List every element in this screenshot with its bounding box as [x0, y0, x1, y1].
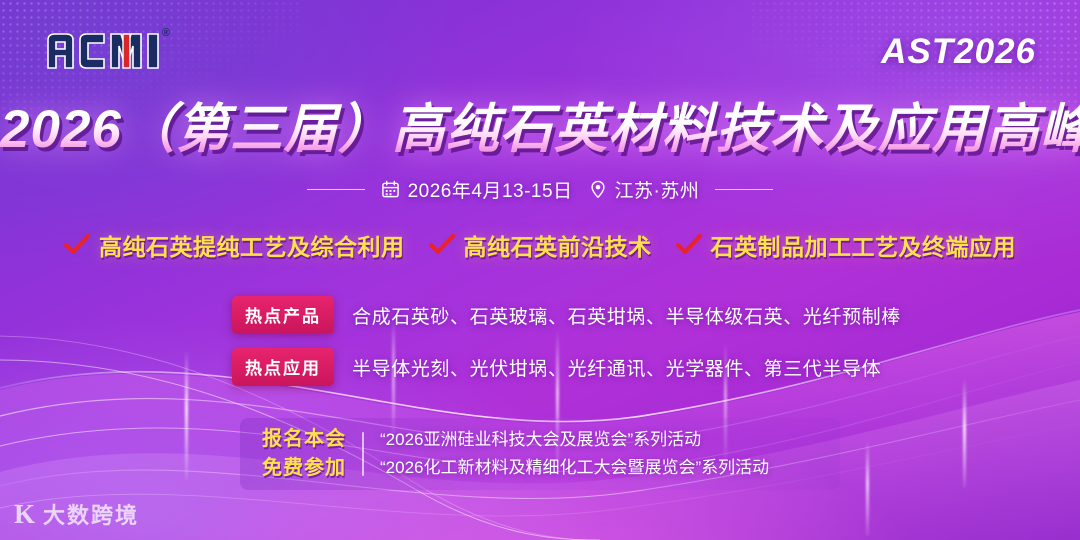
- hotspot-tag: 热点产品: [232, 296, 334, 334]
- topic-label: 高纯石英前沿技术: [464, 228, 652, 262]
- check-icon: [676, 234, 702, 256]
- light-ribbons-decoration: [0, 240, 1080, 540]
- rule-right: [715, 189, 773, 190]
- hotspot-tag: 热点应用: [232, 348, 334, 386]
- registration-item: “2026亚洲硅业科技大会及展览会”系列活动: [380, 426, 769, 454]
- hotspot-row-products: 热点产品 合成石英砂、石英玻璃、石英坩埚、半导体级石英、光纤预制棒: [232, 296, 901, 334]
- event-location-text: 江苏·苏州: [615, 176, 700, 203]
- acmi-logo[interactable]: ®: [44, 30, 166, 70]
- hotspot-value: 合成石英砂、石英玻璃、石英坩埚、半导体级石英、光纤预制棒: [352, 302, 901, 329]
- event-date: 2026年4月13-15日: [381, 176, 573, 203]
- light-beam: [185, 350, 188, 480]
- topic-item: 高纯石英提纯工艺及综合利用: [64, 228, 405, 262]
- watermark: K 大数跨境: [14, 498, 139, 530]
- event-code: AST2026: [881, 32, 1036, 72]
- registration-panel[interactable]: 报名本会 免费参加 “2026亚洲硅业科技大会及展览会”系列活动 “2026化工…: [240, 418, 840, 490]
- hotspot-row-applications: 热点应用 半导体光刻、光伏坩埚、光纤通讯、光学器件、第三代半导体: [232, 348, 881, 386]
- topic-item: 高纯石英前沿技术: [429, 228, 652, 262]
- registration-item: “2026化工新材料及精细化工大会暨展览会”系列活动: [380, 454, 769, 482]
- watermark-text: 大数跨境: [43, 498, 139, 530]
- registered-trademark-icon: ®: [162, 27, 170, 39]
- event-banner: ® AST2026 2026（第三届）高纯石英材料技术及应用高峰论坛 2026年…: [0, 0, 1080, 540]
- acmi-logo-mark: [44, 30, 166, 70]
- topic-label: 高纯石英提纯工艺及综合利用: [99, 228, 405, 262]
- watermark-logo-icon: K: [14, 501, 34, 528]
- check-icon: [429, 234, 455, 256]
- registration-lead-line1: 报名本会: [262, 425, 346, 454]
- check-icon: [64, 234, 90, 256]
- registration-items: “2026亚洲硅业科技大会及展览会”系列活动 “2026化工新材料及精细化工大会…: [380, 426, 769, 482]
- topic-list: 高纯石英提纯工艺及综合利用 高纯石英前沿技术 石英制品加工工艺及终端应用: [0, 228, 1080, 262]
- light-beam: [866, 440, 869, 536]
- page-title: 2026（第三届）高纯石英材料技术及应用高峰论坛: [0, 100, 1080, 159]
- registration-lead-line2: 免费参加: [262, 454, 346, 483]
- event-date-text: 2026年4月13-15日: [408, 176, 573, 203]
- event-meta: 2026年4月13-15日 江苏·苏州: [0, 176, 1080, 203]
- topic-item: 石英制品加工工艺及终端应用: [676, 228, 1017, 262]
- light-beam: [963, 378, 966, 488]
- map-pin-icon: [589, 180, 607, 199]
- calendar-icon: [381, 180, 400, 199]
- registration-lead: 报名本会 免费参加: [262, 425, 346, 483]
- event-location: 江苏·苏州: [589, 176, 700, 203]
- hotspot-value: 半导体光刻、光伏坩埚、光纤通讯、光学器件、第三代半导体: [352, 354, 881, 381]
- topic-label: 石英制品加工工艺及终端应用: [711, 228, 1017, 262]
- rule-left: [307, 189, 365, 190]
- registration-divider: [362, 432, 364, 476]
